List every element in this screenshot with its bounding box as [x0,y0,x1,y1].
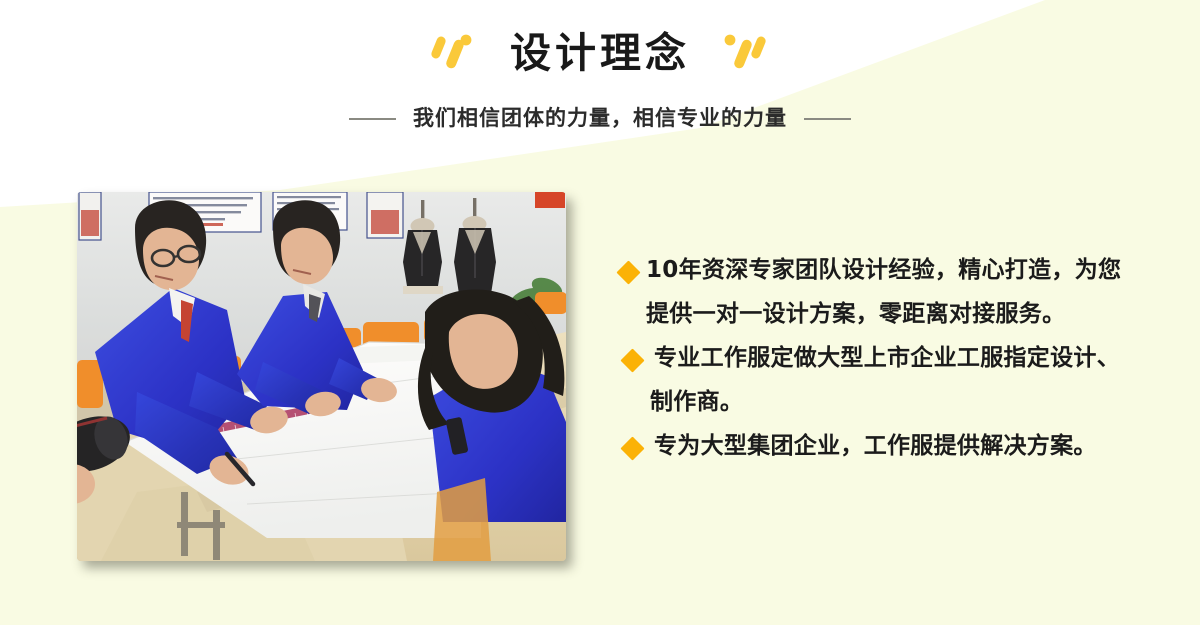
orange-diamond-icon [620,338,654,380]
title-row: 设计理念 [0,14,1200,92]
bullet-indent-spacer [620,382,650,424]
feature-item-1-line-1: 10年资深专家团队设计经验，精心打造，为您 [646,250,1121,291]
feature-list: 10年资深专家团队设计经验，精心打造，为您 提供一对一设计方案，零距离对接服务。… [620,250,1180,470]
feature-item-1-continued: 提供一对一设计方案，零距离对接服务。 [620,294,1180,336]
team-design-photo [77,192,566,561]
subtitle-rule-left [349,118,396,120]
design-concept-banner: 设计理念 我们相信团体的力量，相信专业的力量 [0,0,1200,625]
feature-item-1-line-2: 提供一对一设计方案，零距离对接服务。 [646,294,1065,335]
feature-item-2-continued: 制作商。 [620,382,1180,424]
bullet-indent-spacer [620,294,646,336]
feature-item-2-line-2: 制作商。 [650,382,743,423]
yellow-slash-dot-icon-left [430,30,484,76]
feature-item-3-line-1: 专为大型集团企业，工作服提供解决方案。 [654,426,1097,467]
orange-diamond-icon [620,250,646,292]
feature-item-2-line-1: 专业工作服定做大型上市企业工服指定设计、 [654,338,1120,379]
orange-diamond-icon [620,426,654,468]
feature-item-2: 专业工作服定做大型上市企业工服指定设计、 [620,338,1180,380]
page-subtitle: 我们相信团体的力量，相信专业的力量 [413,108,787,129]
feature-item-3: 专为大型集团企业，工作服提供解决方案。 [620,426,1180,468]
yellow-slash-dot-icon-right [716,30,770,76]
team-design-photo-graphic [77,192,566,561]
subtitle-rule-right [804,118,851,120]
banner-header: 设计理念 我们相信团体的力量，相信专业的力量 [0,0,1200,129]
subtitle-row: 我们相信团体的力量，相信专业的力量 [0,108,1200,129]
feature-item-1: 10年资深专家团队设计经验，精心打造，为您 [620,250,1180,292]
page-title: 设计理念 [510,33,690,74]
